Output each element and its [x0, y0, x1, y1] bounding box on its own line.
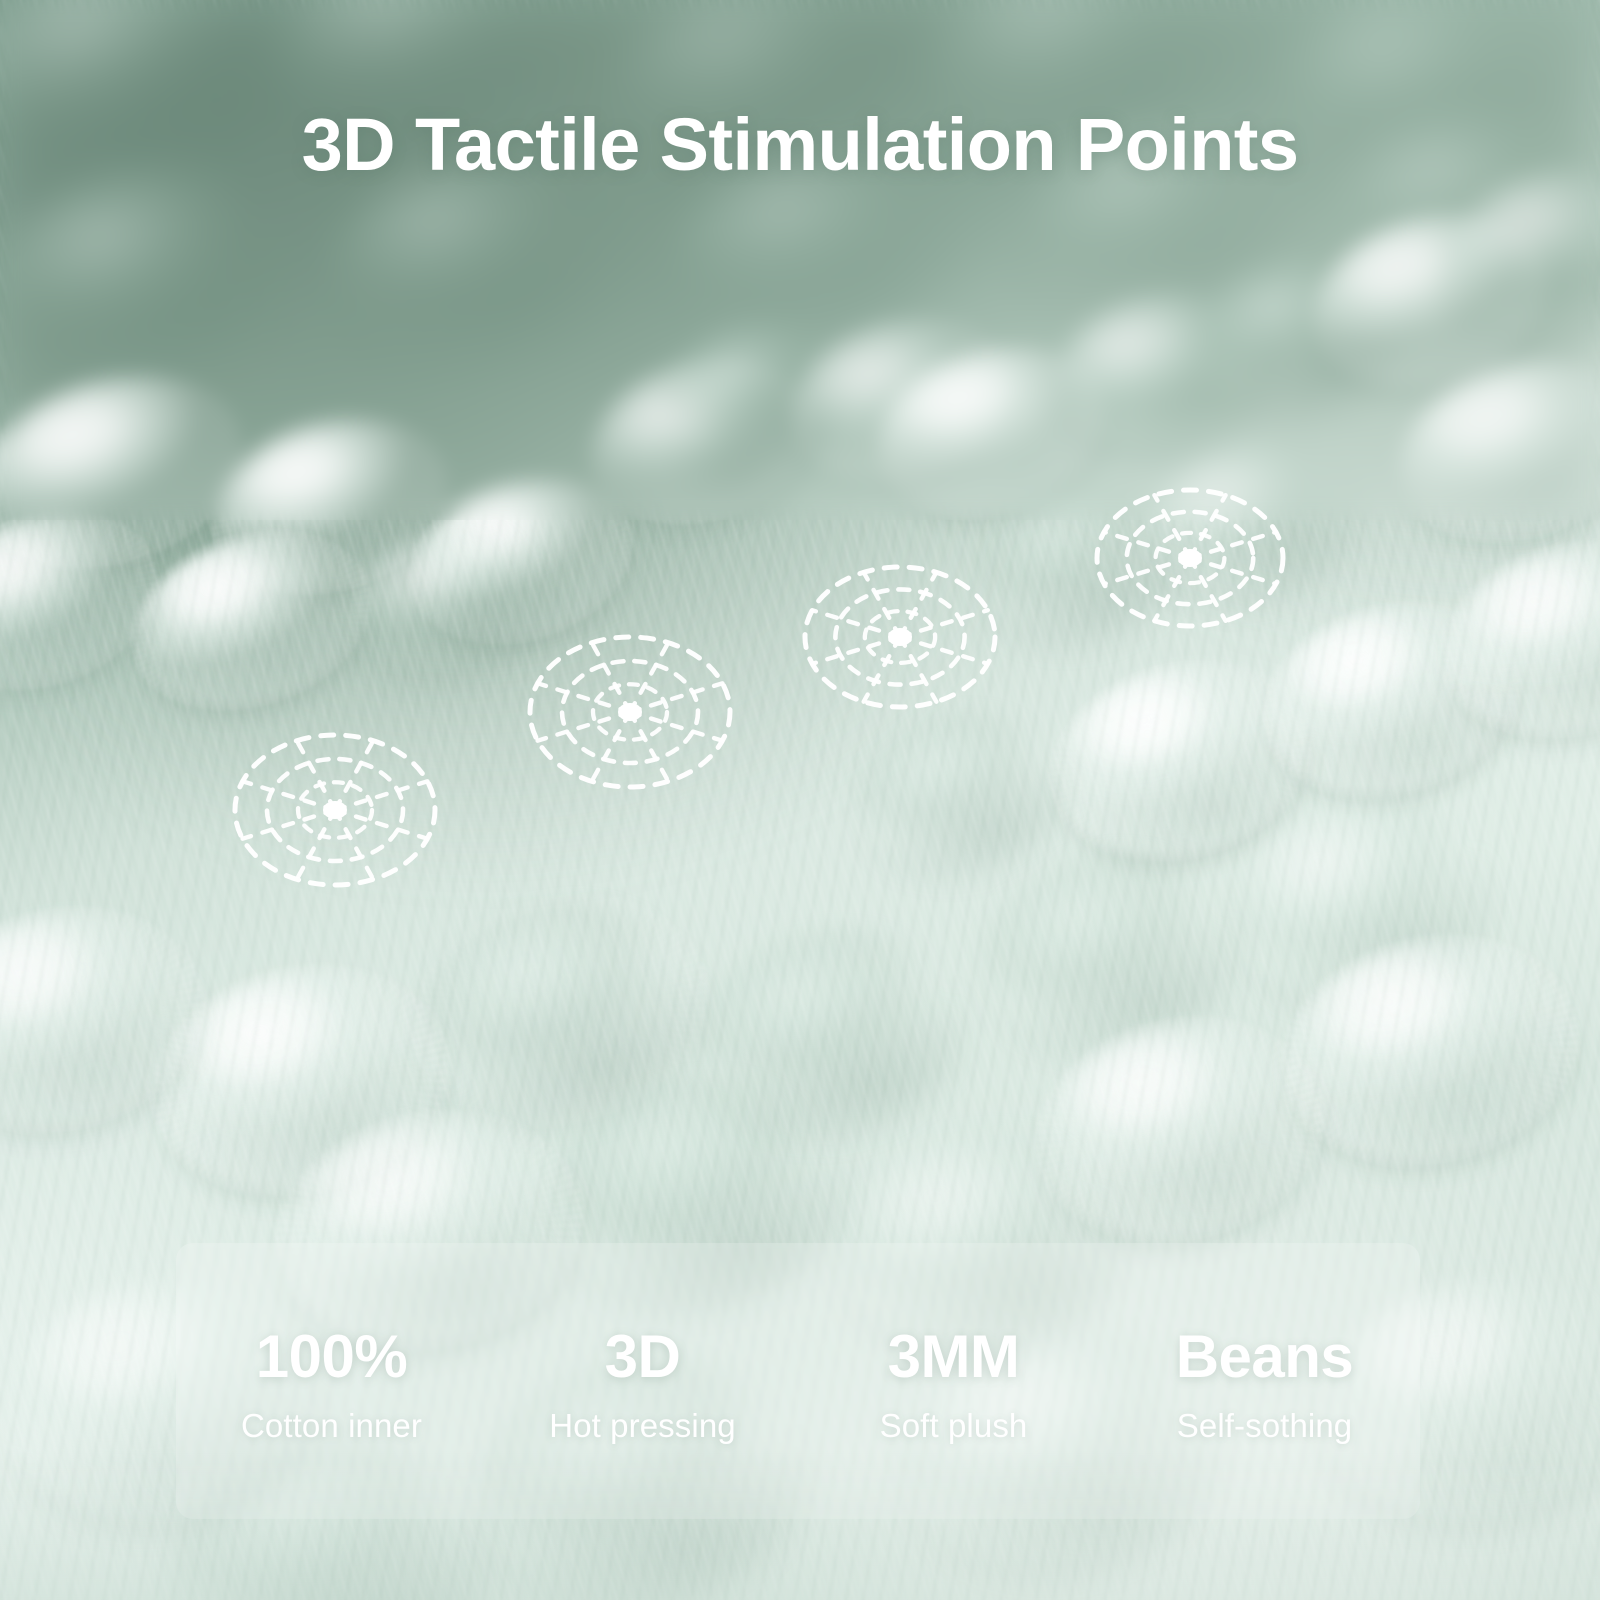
feature-label: Cotton inner: [176, 1408, 487, 1444]
tactile-point-1: [221, 721, 449, 899]
marker-center-point: [323, 801, 347, 819]
depth-of-field-blur: [0, 0, 1600, 520]
feature-value: 3D: [487, 1326, 798, 1388]
feature-value: 100%: [176, 1326, 487, 1388]
page-title: 3D Tactile Stimulation Points: [0, 108, 1600, 182]
feature-item: 3MM Soft plush: [798, 1318, 1109, 1445]
tactile-point-2: [516, 623, 744, 801]
marker-center-point: [618, 703, 642, 721]
marker-center-point: [888, 628, 912, 646]
feature-label: Soft plush: [798, 1408, 1109, 1444]
feature-item: 100% Cotton inner: [176, 1318, 487, 1445]
feature-item: Beans Self-sothing: [1109, 1318, 1420, 1445]
feature-label: Self-sothing: [1109, 1408, 1420, 1444]
feature-value: 3MM: [798, 1326, 1109, 1388]
feature-label: Hot pressing: [487, 1408, 798, 1444]
feature-panel: 100% Cotton inner 3D Hot pressing 3MM So…: [176, 1243, 1420, 1519]
tactile-point-3: [791, 553, 1009, 721]
feature-item: 3D Hot pressing: [487, 1318, 798, 1445]
tactile-point-4: [1083, 476, 1297, 640]
marker-center-point: [1178, 549, 1202, 567]
product-feature-image: 3D Tactile Stimulation Points 100% Cotto…: [0, 0, 1600, 1600]
feature-value: Beans: [1109, 1326, 1420, 1388]
